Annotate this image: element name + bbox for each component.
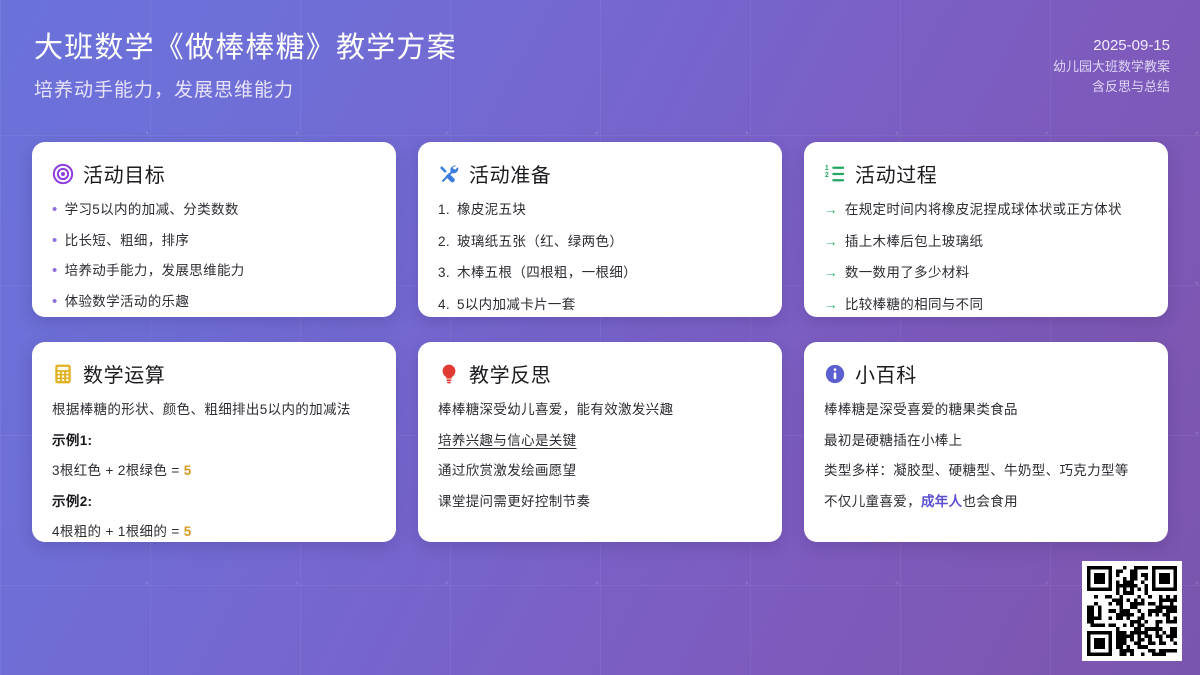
card-list: →在规定时间内将橡皮泥捏成球体状或正方体状→插上木棒后包上玻璃纸→数一数用了多少… bbox=[824, 200, 1148, 314]
card-title: 活动过程 bbox=[855, 159, 937, 188]
page-title: 大班数学《做棒棒糖》教学方案 bbox=[34, 30, 457, 66]
list-item: 3.木棒五根（四根粗，一根细） bbox=[438, 263, 762, 283]
card-text-block: 根据棒糖的形状、颜色、粗细排出5以内的加减法示例1:3根红色 + 2根绿色 = … bbox=[52, 400, 376, 542]
header-meta-line-1: 幼儿园大班数学教案 bbox=[1053, 57, 1170, 77]
text-suffix: 也会食用 bbox=[963, 494, 1018, 509]
text-line: 棒棒糖是深受喜爱的糖果类食品 bbox=[824, 400, 1148, 420]
calculator-icon bbox=[52, 363, 74, 385]
list-item-label: 木棒五根（四根粗，一根细） bbox=[457, 263, 637, 283]
card-text-block: 棒棒糖深受幼儿喜爱，能有效激发兴趣培养兴趣与信心是关键通过欣赏激发绘画愿望课堂提… bbox=[438, 400, 762, 511]
card-header: 12活动过程 bbox=[824, 159, 1148, 188]
qr-code-image bbox=[1087, 566, 1177, 656]
card-grid: 活动目标•学习5以内的加减、分类数数•比长短、粗细，排序•培养动手能力，发展思维… bbox=[32, 142, 1168, 517]
tools-icon bbox=[438, 163, 460, 185]
text-prefix: 不仅儿童喜爱， bbox=[824, 494, 921, 509]
lightbulb-icon bbox=[438, 363, 460, 385]
text-line: 最初是硬糖插在小棒上 bbox=[824, 431, 1148, 451]
list-item-label: 数一数用了多少材料 bbox=[845, 263, 970, 283]
arrow-icon: → bbox=[824, 295, 838, 315]
bullet-icon: • bbox=[52, 233, 58, 248]
card-activity-goals: 活动目标•学习5以内的加减、分类数数•比长短、粗细，排序•培养动手能力，发展思维… bbox=[32, 142, 396, 317]
list-number: 2. bbox=[438, 232, 450, 252]
list-item-label: 5以内加减卡片一套 bbox=[457, 295, 576, 315]
list-item: →插上木棒后包上玻璃纸 bbox=[824, 232, 1148, 252]
list-item-label: 体验数学活动的乐趣 bbox=[65, 292, 190, 312]
arrow-icon: → bbox=[824, 232, 838, 252]
card-header: 小百科 bbox=[824, 359, 1148, 388]
arrow-icon: → bbox=[824, 200, 838, 220]
text-line: 培养兴趣与信心是关键 bbox=[438, 431, 762, 451]
arrow-icon: → bbox=[824, 263, 838, 283]
card-list: 1.橡皮泥五块2.玻璃纸五张（红、绿两色）3.木棒五根（四根粗，一根细）4.5以… bbox=[438, 200, 762, 314]
card-title: 活动目标 bbox=[83, 159, 165, 188]
equation-result: 5 bbox=[184, 524, 192, 539]
list-item-label: 学习5以内的加减、分类数数 bbox=[65, 200, 239, 220]
header-meta-block: 2025-09-15 幼儿园大班数学教案 含反思与总结 bbox=[1053, 24, 1170, 98]
list-item: →比较棒糖的相同与不同 bbox=[824, 295, 1148, 315]
text-line: 4根粗的 + 1根细的 = 5 bbox=[52, 522, 376, 542]
text-line: 示例1: bbox=[52, 431, 376, 451]
card-text-block: 棒棒糖是深受喜爱的糖果类食品最初是硬糖插在小棒上类型多样：凝胶型、硬糖型、牛奶型… bbox=[824, 400, 1148, 511]
card-header: 教学反思 bbox=[438, 359, 762, 388]
list-item: •学习5以内的加减、分类数数 bbox=[52, 200, 376, 220]
equation-text: 4根粗的 + 1根细的 = bbox=[52, 524, 184, 539]
list-item: 1.橡皮泥五块 bbox=[438, 200, 762, 220]
card-title: 数学运算 bbox=[83, 359, 165, 388]
list-item-label: 在规定时间内将橡皮泥捏成球体状或正方体状 bbox=[845, 200, 1122, 220]
page-subtitle: 培养动手能力，发展思维能力 bbox=[34, 75, 457, 102]
header-meta-line-2: 含反思与总结 bbox=[1053, 77, 1170, 97]
ordered-list-icon: 12 bbox=[824, 163, 846, 185]
card-title: 小百科 bbox=[855, 359, 917, 388]
card-header: 活动准备 bbox=[438, 159, 762, 188]
list-number: 4. bbox=[438, 295, 450, 315]
text-line: 根据棒糖的形状、颜色、粗细排出5以内的加减法 bbox=[52, 400, 376, 420]
text-line: 示例2: bbox=[52, 492, 376, 512]
list-item-label: 比较棒糖的相同与不同 bbox=[845, 295, 984, 315]
card-math-operations: 数学运算根据棒糖的形状、颜色、粗细排出5以内的加减法示例1:3根红色 + 2根绿… bbox=[32, 342, 396, 542]
card-title: 活动准备 bbox=[469, 159, 551, 188]
list-item: •培养动手能力，发展思维能力 bbox=[52, 261, 376, 281]
card-activity-process: 12活动过程→在规定时间内将橡皮泥捏成球体状或正方体状→插上木棒后包上玻璃纸→数… bbox=[804, 142, 1168, 317]
list-item: →数一数用了多少材料 bbox=[824, 263, 1148, 283]
list-item: 4.5以内加减卡片一套 bbox=[438, 295, 762, 315]
header-date: 2025-09-15 bbox=[1053, 34, 1170, 57]
card-header: 数学运算 bbox=[52, 359, 376, 388]
card-list: •学习5以内的加减、分类数数•比长短、粗细，排序•培养动手能力，发展思维能力•体… bbox=[52, 200, 376, 311]
bullet-icon: • bbox=[52, 263, 58, 278]
header-title-block: 大班数学《做棒棒糖》教学方案 培养动手能力，发展思维能力 bbox=[34, 24, 457, 102]
card-encyclopedia: 小百科棒棒糖是深受喜爱的糖果类食品最初是硬糖插在小棒上类型多样：凝胶型、硬糖型、… bbox=[804, 342, 1168, 542]
slide-header: 大班数学《做棒棒糖》教学方案 培养动手能力，发展思维能力 2025-09-15 … bbox=[0, 0, 1200, 120]
text-line: 课堂提问需更好控制节奏 bbox=[438, 492, 762, 512]
equation-text: 3根红色 + 2根绿色 = bbox=[52, 463, 184, 478]
svg-text:2: 2 bbox=[825, 171, 829, 178]
slide-page: 大班数学《做棒棒糖》教学方案 培养动手能力，发展思维能力 2025-09-15 … bbox=[0, 0, 1200, 675]
text-line: 类型多样：凝胶型、硬糖型、牛奶型、巧克力型等 bbox=[824, 461, 1148, 481]
text-line: 通过欣赏激发绘画愿望 bbox=[438, 461, 762, 481]
list-number: 1. bbox=[438, 200, 450, 220]
list-item-label: 玻璃纸五张（红、绿两色） bbox=[457, 232, 623, 252]
list-item: →在规定时间内将橡皮泥捏成球体状或正方体状 bbox=[824, 200, 1148, 220]
list-item: •体验数学活动的乐趣 bbox=[52, 292, 376, 312]
card-activity-preparation: 活动准备1.橡皮泥五块2.玻璃纸五张（红、绿两色）3.木棒五根（四根粗，一根细）… bbox=[418, 142, 782, 317]
text-line: 3根红色 + 2根绿色 = 5 bbox=[52, 461, 376, 481]
bullet-icon: • bbox=[52, 294, 58, 309]
list-number: 3. bbox=[438, 263, 450, 283]
text-line: 棒棒糖深受幼儿喜爱，能有效激发兴趣 bbox=[438, 400, 762, 420]
equation-result: 5 bbox=[184, 463, 192, 478]
highlighted-term: 成年人 bbox=[921, 494, 963, 509]
list-item-label: 比长短、粗细，排序 bbox=[65, 231, 190, 251]
bullet-icon: • bbox=[52, 202, 58, 217]
list-item-label: 培养动手能力，发展思维能力 bbox=[65, 261, 245, 281]
qr-code[interactable] bbox=[1082, 561, 1182, 661]
list-item: •比长短、粗细，排序 bbox=[52, 231, 376, 251]
list-item-label: 插上木棒后包上玻璃纸 bbox=[845, 232, 984, 252]
card-header: 活动目标 bbox=[52, 159, 376, 188]
card-title: 教学反思 bbox=[469, 359, 551, 388]
target-icon bbox=[52, 163, 74, 185]
list-item: 2.玻璃纸五张（红、绿两色） bbox=[438, 232, 762, 252]
info-circle-icon bbox=[824, 363, 846, 385]
card-teaching-reflection: 教学反思棒棒糖深受幼儿喜爱，能有效激发兴趣培养兴趣与信心是关键通过欣赏激发绘画愿… bbox=[418, 342, 782, 542]
list-item-label: 橡皮泥五块 bbox=[457, 200, 526, 220]
text-line: 不仅儿童喜爱，成年人也会食用 bbox=[824, 492, 1148, 512]
